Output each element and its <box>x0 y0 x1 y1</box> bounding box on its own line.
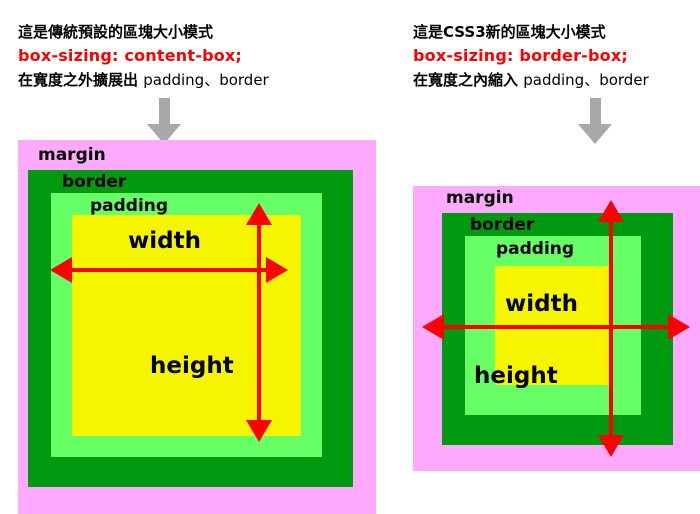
border-label: border <box>470 215 534 235</box>
height-measure-arrow <box>598 200 624 457</box>
margin-label: margin <box>38 145 106 165</box>
height-label: height <box>474 363 558 389</box>
caption-effect-prefix: 在寬度之外擴展出 <box>18 71 138 89</box>
arrowhead-right-icon <box>668 314 690 340</box>
width-label: width <box>505 291 578 317</box>
width-measure-arrow <box>422 314 690 340</box>
caption-line-description: 這是傳統預設的區塊大小模式 <box>18 20 269 44</box>
width-label: width <box>128 228 201 254</box>
caption-content-box: 這是傳統預設的區塊大小模式 box-sizing: content-box; 在… <box>18 20 269 92</box>
measure-shaft <box>64 268 274 272</box>
arrow-shaft <box>590 98 601 125</box>
arrow-down-icon <box>578 98 612 144</box>
arrow-head <box>578 124 612 144</box>
margin-label: margin <box>446 188 514 208</box>
arrow-shaft <box>159 98 170 125</box>
arrowhead-down-icon <box>598 435 624 457</box>
padding-label: padding <box>90 196 168 216</box>
height-measure-arrow <box>246 203 272 442</box>
measure-shaft <box>257 217 261 428</box>
measure-shaft <box>609 214 613 443</box>
padding-label: padding <box>496 239 574 259</box>
arrowhead-down-icon <box>246 420 272 442</box>
caption-line-code: box-sizing: content-box; <box>18 44 269 68</box>
caption-line-effect: 在寬度之外擴展出 padding、border <box>18 68 269 92</box>
height-label: height <box>150 353 234 379</box>
arrow-down-icon <box>147 98 181 144</box>
caption-line-code: box-sizing: border-box; <box>413 44 649 68</box>
caption-effect-prefix: 在寬度之內縮入 <box>413 71 518 89</box>
caption-effect-properties: padding、border <box>143 71 268 89</box>
caption-line-description: 這是CSS3新的區塊大小模式 <box>413 20 649 44</box>
box-model-diagram-content-box: margin border padding <box>18 140 376 514</box>
caption-effect-properties: padding、border <box>523 71 648 89</box>
caption-line-effect: 在寬度之內縮入 padding、border <box>413 68 649 92</box>
caption-border-box: 這是CSS3新的區塊大小模式 box-sizing: border-box; 在… <box>413 20 649 92</box>
measure-shaft <box>436 325 676 329</box>
border-label: border <box>62 172 126 192</box>
